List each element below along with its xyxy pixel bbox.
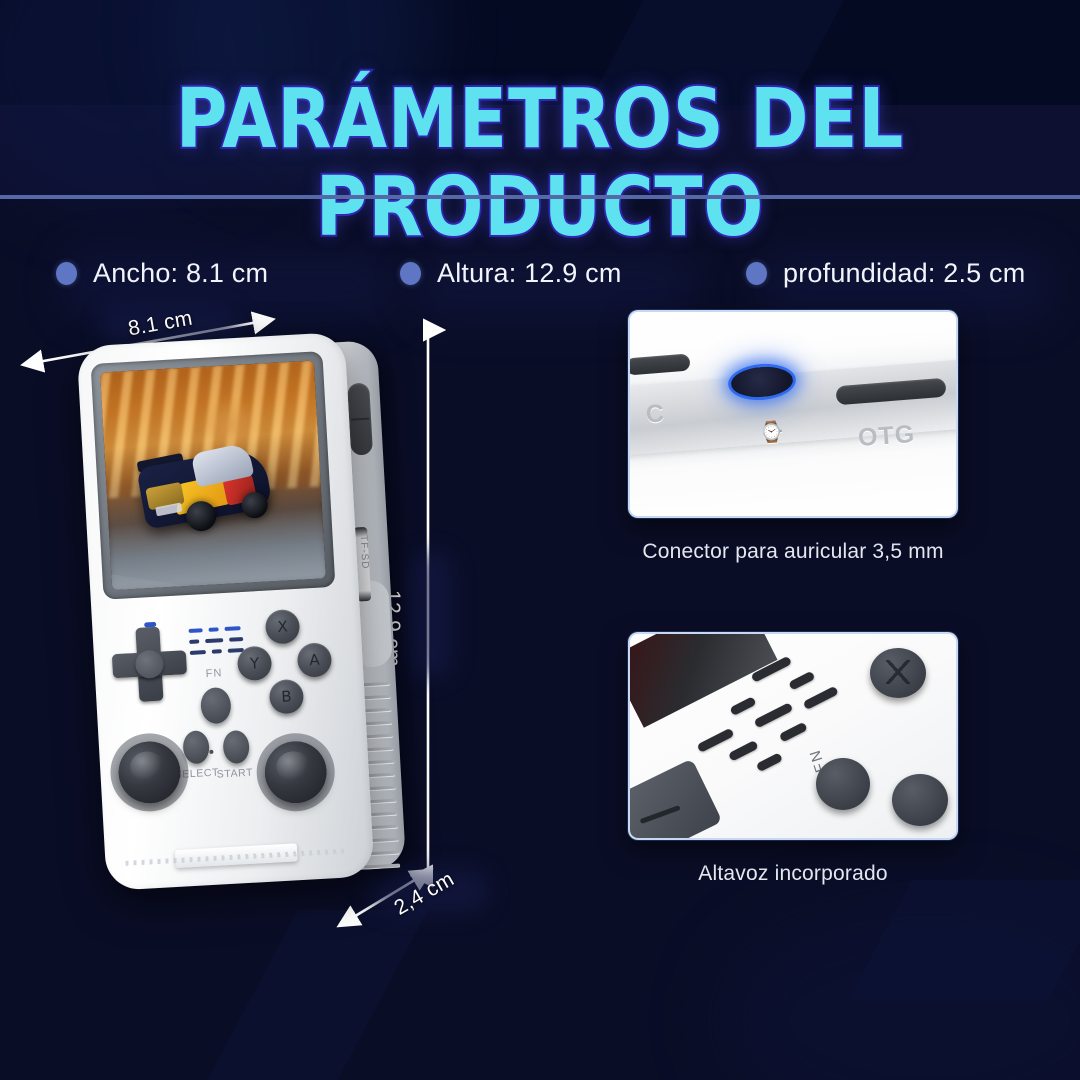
joystick-right[interactable]	[263, 740, 328, 805]
title-divider	[0, 195, 1080, 199]
spec-item-height: Altura: 12.9 cm	[400, 258, 622, 289]
headphone-panel-caption: Conector para auricular 3,5 mm	[628, 540, 958, 564]
feature-panel-headphone: C OTG ⌚ Conector para auricular 3,5 mm	[628, 310, 958, 564]
infographic-page: PARÁMETROS DEL PRODUCTO Ancho: 8.1 cm Al…	[0, 0, 1080, 1080]
button-x[interactable]: X	[265, 609, 301, 645]
fn-button[interactable]	[200, 687, 232, 725]
device-illustration: 8.1 cm 12.9 cm	[0, 300, 520, 960]
button-b-closeup	[892, 774, 948, 826]
button-a-closeup	[816, 758, 870, 810]
car-wheel-rear	[241, 491, 268, 518]
joystick-left[interactable]	[117, 740, 182, 805]
tf-card-slot-label: TF-SD	[358, 535, 371, 570]
console-screen	[100, 361, 326, 591]
spec-label-height: Altura: 12.9 cm	[437, 258, 622, 289]
spec-label-width: Ancho: 8.1 cm	[93, 258, 268, 289]
fn-button-label: FN	[199, 667, 230, 681]
power-led-indicator	[144, 622, 156, 628]
screen-rally-car	[138, 435, 275, 534]
button-x-closeup	[870, 648, 926, 698]
select-button[interactable]	[182, 730, 210, 764]
dot-bullet-icon	[746, 262, 767, 285]
page-title: PARÁMETROS DEL PRODUCTO	[76, 76, 1005, 252]
volume-rocker-button[interactable]	[347, 383, 373, 456]
headphone-icon: ⌚	[758, 419, 785, 446]
spec-item-width: Ancho: 8.1 cm	[56, 258, 268, 289]
reset-pinhole	[209, 750, 213, 754]
otg-port-label: OTG	[857, 420, 916, 453]
dot-bullet-icon	[400, 262, 421, 285]
spec-item-depth: profundidad: 2.5 cm	[746, 258, 1025, 289]
speaker-panel-caption: Altavoz incorporado	[628, 862, 958, 886]
console-control-face: X Y A B FN SELECT START	[91, 593, 374, 891]
handheld-console: TF-SD	[77, 330, 408, 906]
speaker-grille-photo: FN	[628, 632, 958, 840]
feature-panel-speaker: FN Altavoz incorporado	[628, 632, 958, 886]
dpad-control[interactable]	[110, 625, 188, 703]
page-title-wrap: PARÁMETROS DEL PRODUCTO	[0, 76, 1080, 252]
select-button-label: SELECT	[174, 767, 219, 781]
button-a[interactable]: A	[297, 642, 333, 678]
screen-bezel	[91, 351, 336, 600]
spec-label-depth: profundidad: 2.5 cm	[783, 258, 1025, 289]
start-button-label: START	[216, 767, 253, 781]
button-b[interactable]: B	[269, 679, 305, 715]
headphone-jack-photo: C OTG ⌚	[628, 310, 958, 518]
button-y[interactable]: Y	[237, 645, 273, 681]
start-button[interactable]	[222, 730, 250, 764]
car-wheel-front	[185, 500, 217, 532]
usb-c-port-label: C	[645, 399, 665, 429]
height-label-glow	[410, 550, 454, 680]
dot-bullet-icon	[56, 262, 77, 285]
